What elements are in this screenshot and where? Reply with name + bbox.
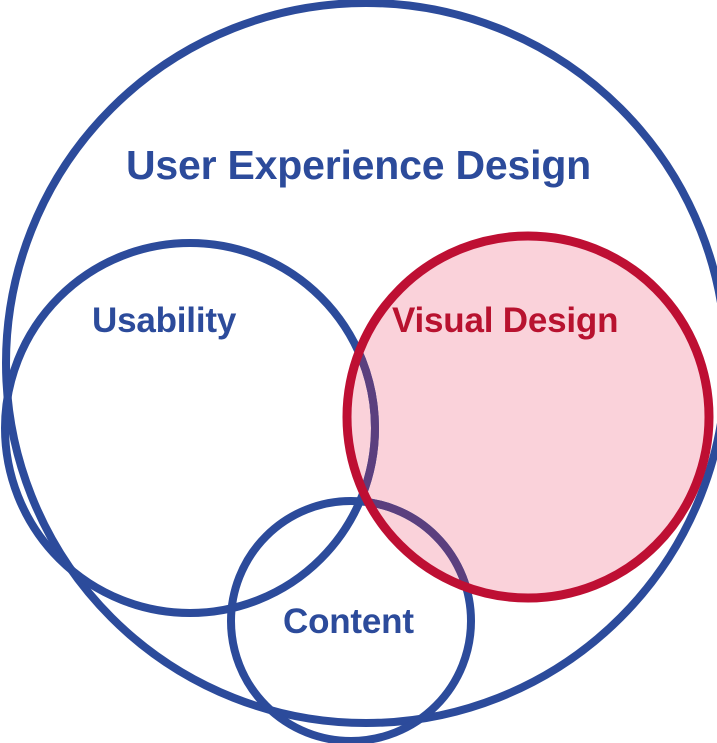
venn-diagram: User Experience Design Usability Visual … (0, 0, 717, 743)
venn-diagram-canvas (0, 0, 717, 743)
usability-circle (5, 243, 375, 613)
